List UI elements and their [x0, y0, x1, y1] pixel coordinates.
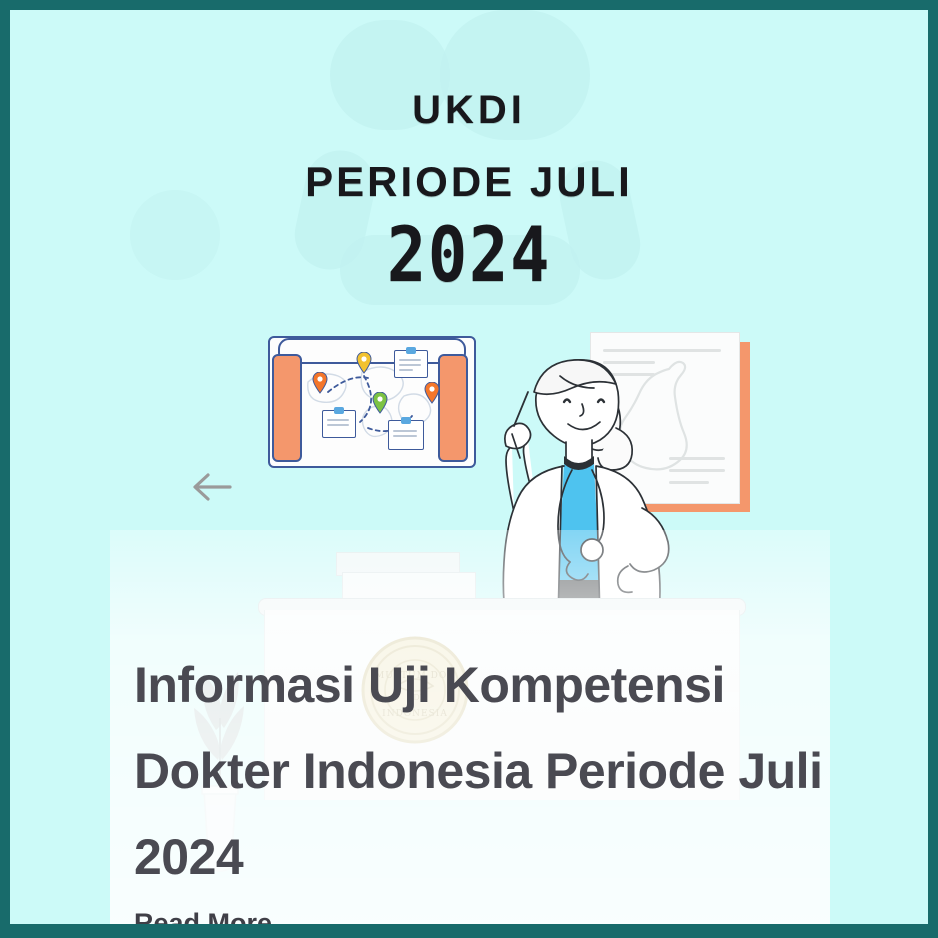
board-note-2 — [322, 410, 356, 438]
banner-year: 2024 — [74, 210, 863, 299]
banner-line-1: UKDI — [10, 88, 928, 133]
post-title: Informasi Uji Kompetensi Dokter Indonesi… — [134, 642, 834, 900]
map-pin-orange-2 — [424, 382, 440, 404]
map-pin-green — [372, 392, 388, 414]
map-pin-yellow — [356, 352, 372, 374]
map-pin-orange-1 — [312, 372, 328, 394]
banner-line-2: PERIODE JULI — [10, 158, 928, 206]
post-card: UKDI PERIODE JULI 2024 — [0, 0, 938, 938]
read-more-link[interactable]: Read More — [134, 908, 272, 924]
board-curtain-left — [272, 354, 302, 462]
board-note-3 — [388, 420, 424, 450]
board-note-1 — [394, 350, 428, 378]
card-stage: UKDI PERIODE JULI 2024 — [10, 10, 928, 924]
